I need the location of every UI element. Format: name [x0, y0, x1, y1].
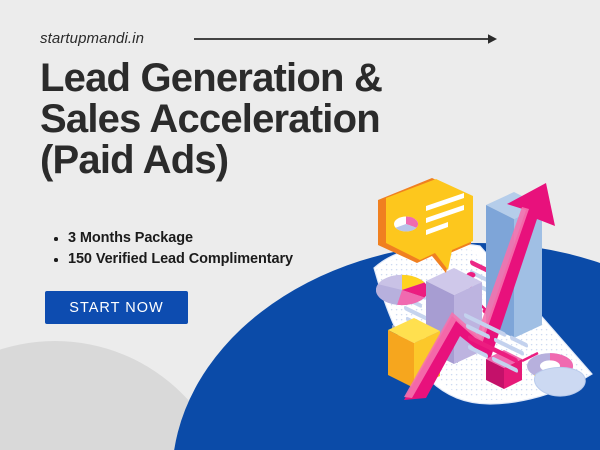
page-title: Lead Generation & Sales Acceleration (Pa…: [40, 58, 520, 181]
isometric-analytics-report-illustration: [340, 178, 600, 418]
headline-line-3: (Paid Ads): [40, 140, 520, 181]
feature-list: 3 Months Package 150 Verified Lead Compl…: [50, 228, 293, 270]
promo-banner: startupmandi.in Lead Generation & Sales …: [0, 0, 600, 450]
list-item: 150 Verified Lead Complimentary: [50, 249, 293, 270]
list-item: 3 Months Package: [50, 228, 293, 249]
brand-row: startupmandi.in: [0, 26, 600, 52]
long-right-arrow-icon: [192, 31, 502, 47]
start-now-button[interactable]: START NOW: [45, 291, 188, 324]
bubble-pie-icon: [394, 217, 418, 232]
headline-line-2: Sales Acceleration: [40, 99, 520, 140]
headline-line-1: Lead Generation &: [40, 58, 520, 99]
brand-logo-text: startupmandi.in: [40, 26, 144, 52]
pie-chart-icon: [376, 275, 428, 305]
